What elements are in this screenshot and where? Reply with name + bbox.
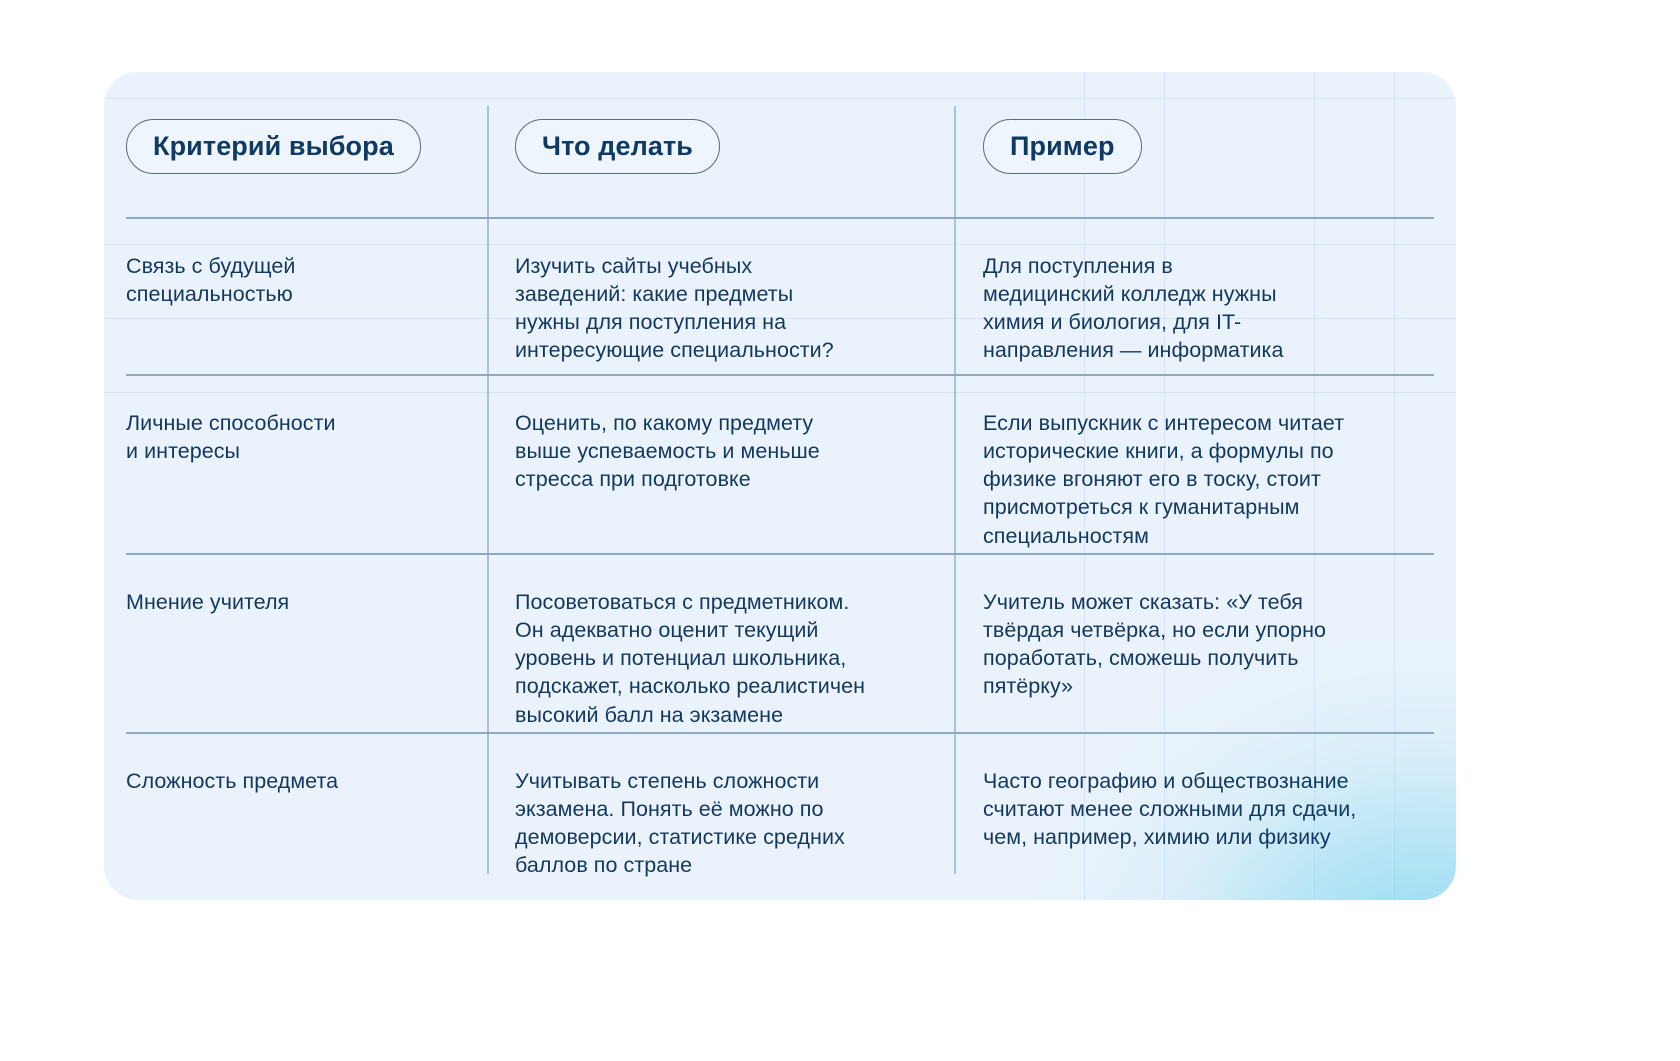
table-row: Связь с будущей специальностью Изучить с… <box>104 217 1456 374</box>
column-header-example: Пример <box>983 119 1142 174</box>
cell-text: Учитывать степень сложности экзамена. По… <box>515 767 924 880</box>
cell-text: Связь с будущей специальностью <box>126 252 457 308</box>
cell-text: Изучить сайты учебных заведений: какие п… <box>515 252 924 365</box>
cell-criterion: Личные способности и интересы <box>104 409 487 465</box>
cell-text: Если выпускник с интересом читает истори… <box>983 409 1436 550</box>
table-row: Мнение учителя Посоветоваться с предметн… <box>104 553 1456 732</box>
cell-action: Оценить, по какому предмету выше успевае… <box>487 409 954 493</box>
cell-text: Посоветоваться с предметником. Он адеква… <box>515 588 924 729</box>
cell-example: Учитель может сказать: «У тебя твёрдая ч… <box>954 588 1456 701</box>
cell-action: Учитывать степень сложности экзамена. По… <box>487 767 954 880</box>
cell-text: Оценить, по какому предмету выше успевае… <box>515 409 924 493</box>
column-header-action: Что делать <box>515 119 720 174</box>
cell-text: Мнение учителя <box>126 588 457 616</box>
row-divider <box>126 553 1434 555</box>
table-row: Сложность предмета Учитывать степень сло… <box>104 732 1456 897</box>
row-divider <box>126 374 1434 376</box>
cell-action: Посоветоваться с предметником. Он адеква… <box>487 588 954 729</box>
cell-example: Часто географию и обществознание считают… <box>954 767 1456 851</box>
cell-criterion: Сложность предмета <box>104 767 487 795</box>
row-divider <box>126 217 1434 219</box>
cell-example: Для поступления в медицинский колледж ну… <box>954 252 1456 365</box>
table-header-row: Критерий выбора Что делать Пример <box>104 72 1456 217</box>
table-row: Личные способности и интересы Оценить, п… <box>104 374 1456 553</box>
row-divider <box>126 732 1434 734</box>
table-body: Связь с будущей специальностью Изучить с… <box>104 217 1456 900</box>
cell-text: Для поступления в медицинский колледж ну… <box>983 252 1436 365</box>
cell-text: Личные способности и интересы <box>126 409 457 465</box>
comparison-table-card: Критерий выбора Что делать Пример Связь … <box>104 72 1456 900</box>
cell-text: Учитель может сказать: «У тебя твёрдая ч… <box>983 588 1436 701</box>
cell-action: Изучить сайты учебных заведений: какие п… <box>487 252 954 365</box>
cell-criterion: Связь с будущей специальностью <box>104 252 487 308</box>
screenshot-root: Критерий выбора Что делать Пример Связь … <box>0 0 1680 1061</box>
cell-criterion: Мнение учителя <box>104 588 487 616</box>
cell-text: Сложность предмета <box>126 767 457 795</box>
column-header-criterion: Критерий выбора <box>126 119 421 174</box>
cell-text: Часто географию и обществознание считают… <box>983 767 1436 851</box>
cell-example: Если выпускник с интересом читает истори… <box>954 409 1456 550</box>
criteria-table: Критерий выбора Что делать Пример Связь … <box>104 72 1456 900</box>
